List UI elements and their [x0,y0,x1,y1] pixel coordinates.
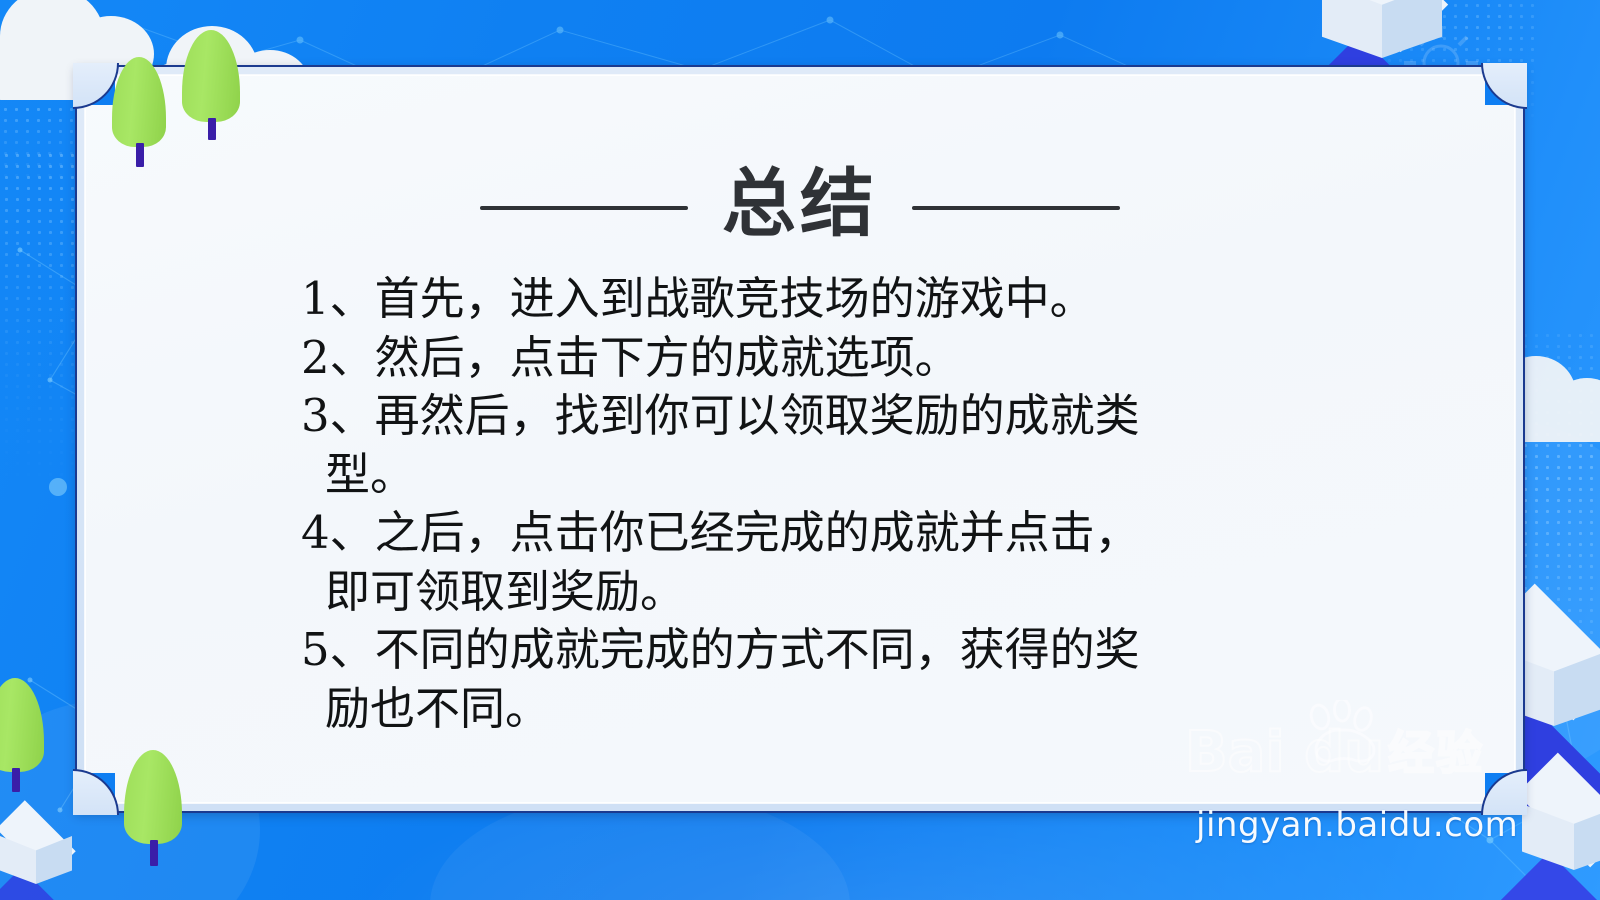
card-notch-top-right [1485,63,1527,105]
summary-line: 4、之后，点击你已经完成的成就并点击， [301,504,1395,563]
summary-line: 1、首先，进入到战歌竞技场的游戏中。 [301,270,1395,329]
summary-line: 型。 [301,446,1395,505]
card-notch-top-left [73,63,115,105]
summary-line: 5、不同的成就完成的方式不同，获得的奖 [301,621,1395,680]
card-inner-surface: 总结 1、首先，进入到战歌竞技场的游戏中。2、然后，点击下方的成就选项。3、再然… [84,74,1516,804]
card-notch-bottom-left [73,773,115,815]
card-notch-bottom-right [1485,773,1527,815]
summary-line: 2、然后，点击下方的成就选项。 [301,329,1395,388]
summary-text-block: 1、首先，进入到战歌竞技场的游戏中。2、然后，点击下方的成就选项。3、再然后，找… [301,270,1395,738]
cube-bottom-left [0,810,102,900]
title-row: 总结 [85,171,1515,245]
summary-line: 即可领取到奖励。 [301,563,1395,622]
summary-line: 励也不同。 [301,680,1395,739]
tree-3 [0,678,48,794]
slide-canvas: 总结 1、首先，进入到战歌竞技场的游戏中。2、然后，点击下方的成就选项。3、再然… [0,0,1600,900]
summary-line: 3、再然后，找到你可以领取奖励的成就类 [301,387,1395,446]
title-rule-right [912,206,1120,210]
baidu-paw-icon [1306,700,1386,766]
title-rule-left [480,206,688,210]
page-title: 总结 [722,167,878,241]
